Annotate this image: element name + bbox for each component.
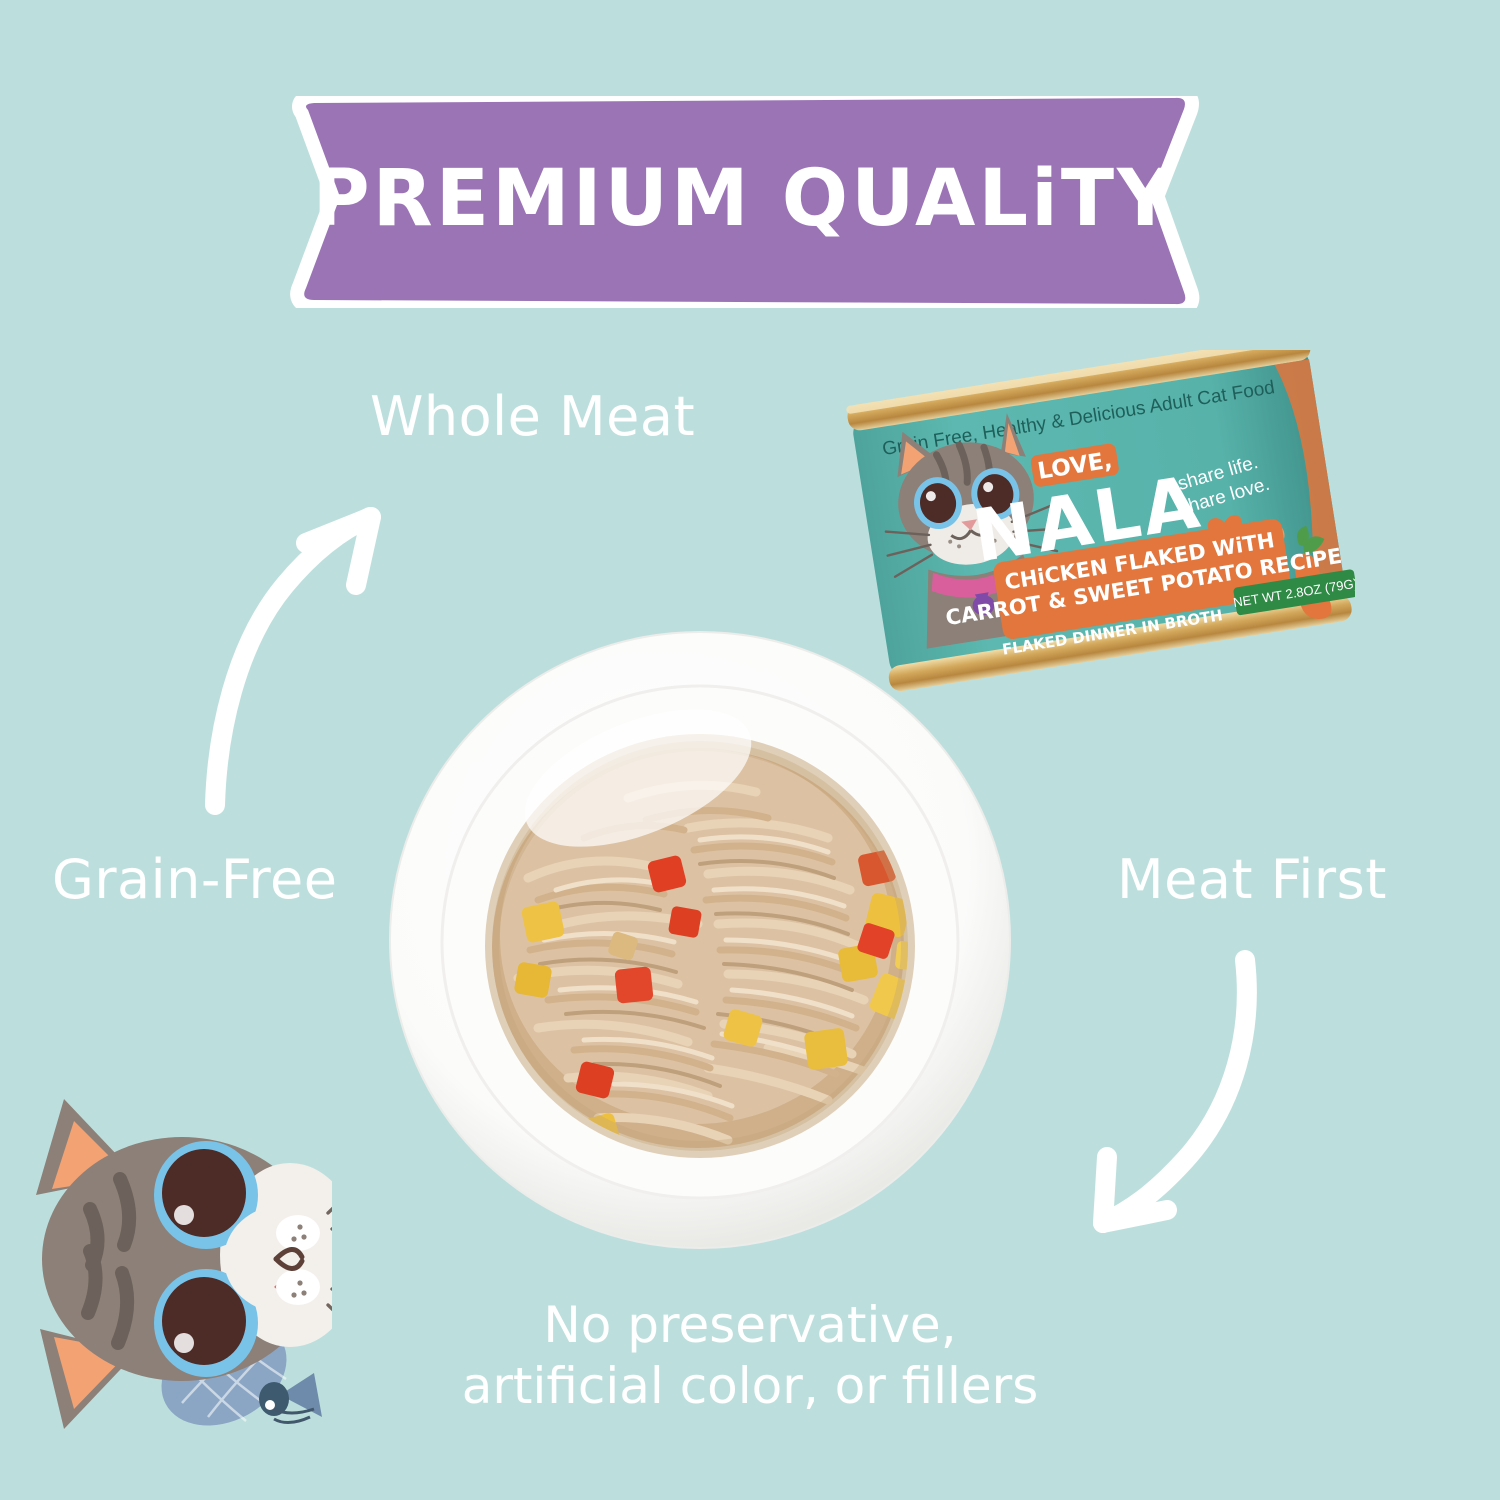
product-can: Grain Free, Healthy & Delicious Adult Ca… <box>845 350 1355 695</box>
feature-label-grain-free: Grain-Free <box>52 848 337 911</box>
can-illustration: Grain Free, Healthy & Delicious Adult Ca… <box>845 350 1355 695</box>
bowl-illustration <box>388 628 1012 1252</box>
banner-title: PREMIUM QUALiTY <box>272 96 1217 308</box>
mascot-illustration <box>0 975 332 1445</box>
arrow-up-right-icon <box>175 485 415 825</box>
feature-label-meat-first: Meat First <box>1117 848 1387 911</box>
food-bowl <box>388 628 1012 1252</box>
arrow-down-left-icon <box>1045 935 1305 1245</box>
corner-cat-mascot <box>0 975 332 1445</box>
feature-label-whole-meat: Whole Meat <box>370 385 695 448</box>
premium-quality-banner: PREMIUM QUALiTY <box>272 96 1217 308</box>
product-feature-graphic: PREMIUM QUALiTY Whole Meat Grain-Free Me… <box>0 0 1500 1500</box>
